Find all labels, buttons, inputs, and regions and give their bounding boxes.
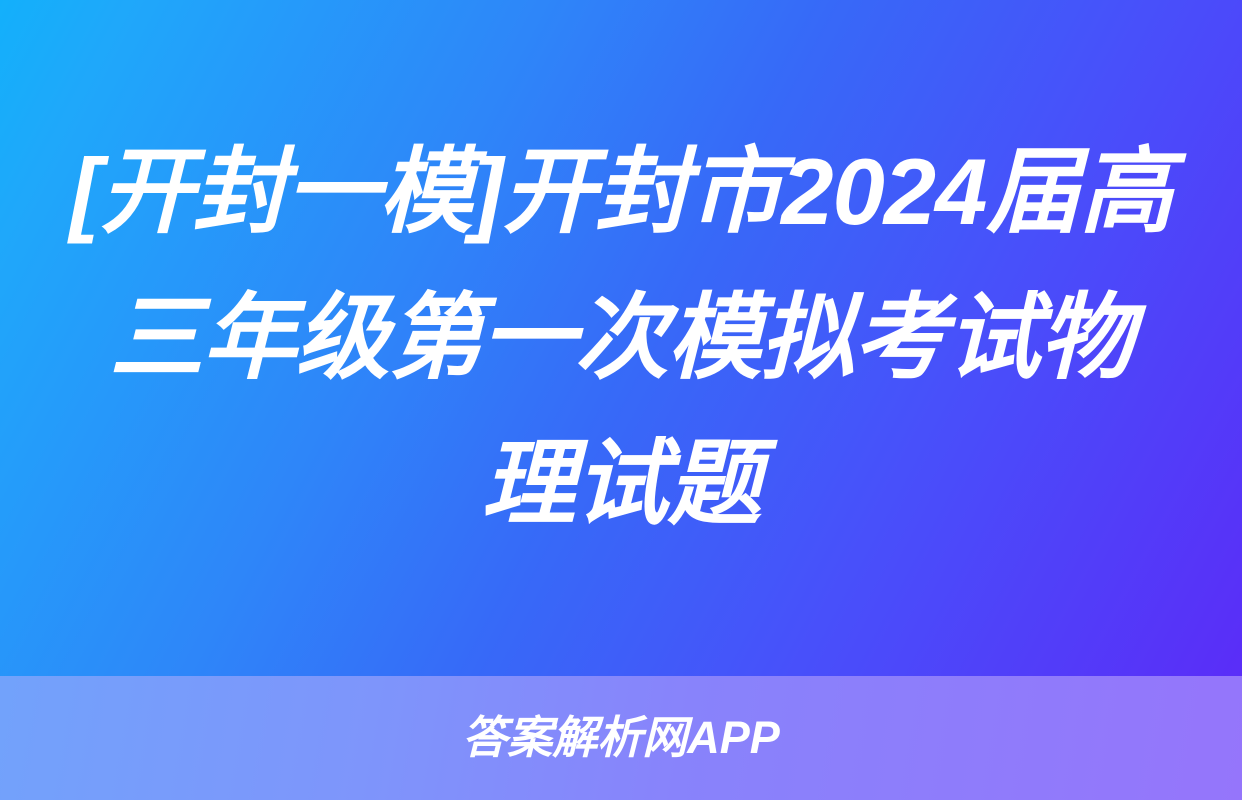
exam-cover-card: [开封一模]开封市2024届高三年级第一次模拟考试物理试题 答案解析网APP	[0, 0, 1242, 800]
watermark-text: 答案解析网APP	[462, 713, 780, 763]
exam-title-text: [开封一模]开封市2024届高三年级第一次模拟考试物理试题	[68, 119, 1174, 557]
page-title: [开封一模]开封市2024届高三年级第一次模拟考试物理试题	[68, 119, 1174, 557]
watermark-banner: 答案解析网APP	[0, 676, 1242, 800]
hero-gradient-panel: [开封一模]开封市2024届高三年级第一次模拟考试物理试题	[0, 0, 1242, 676]
